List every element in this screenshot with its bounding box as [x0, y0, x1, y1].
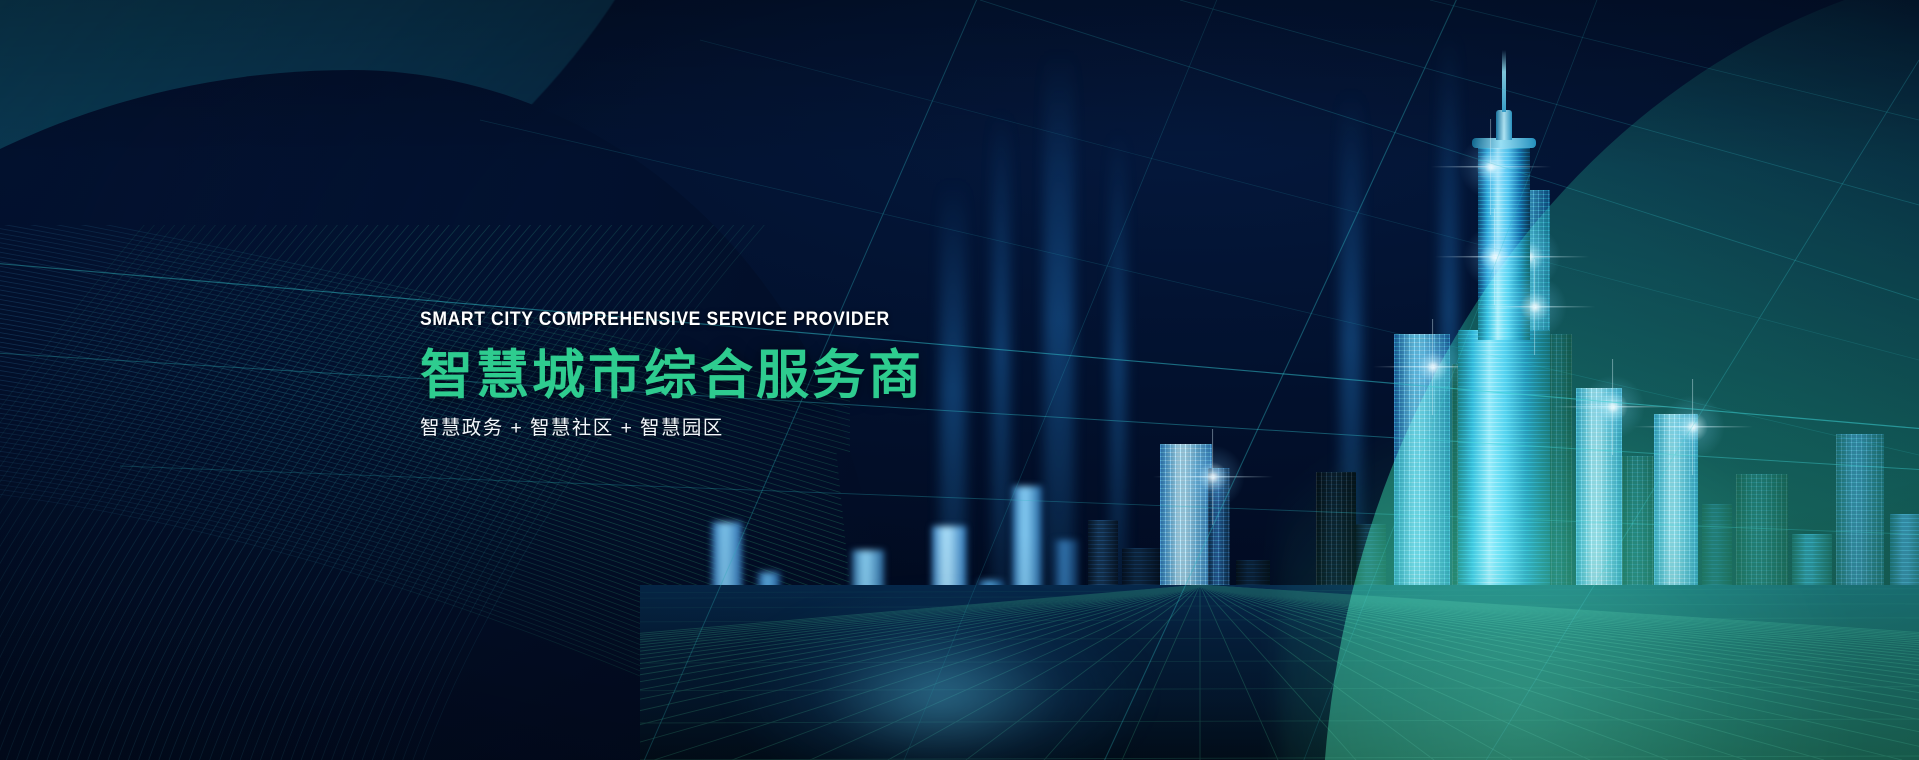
perspective-grid-floor: [640, 585, 1919, 760]
hero-headline: 智慧城市综合服务商: [420, 347, 1180, 404]
hero-eyebrow: SMART CITY COMPREHENSIVE SERVICE PROVIDE…: [420, 310, 1104, 330]
hero-copy-block: SMART CITY COMPREHENSIVE SERVICE PROVIDE…: [420, 310, 1180, 438]
hero-subline: 智慧政务 + 智慧社区 + 智慧园区: [420, 419, 1180, 439]
smart-city-hero-banner: SMART CITY COMPREHENSIVE SERVICE PROVIDE…: [0, 0, 1919, 760]
